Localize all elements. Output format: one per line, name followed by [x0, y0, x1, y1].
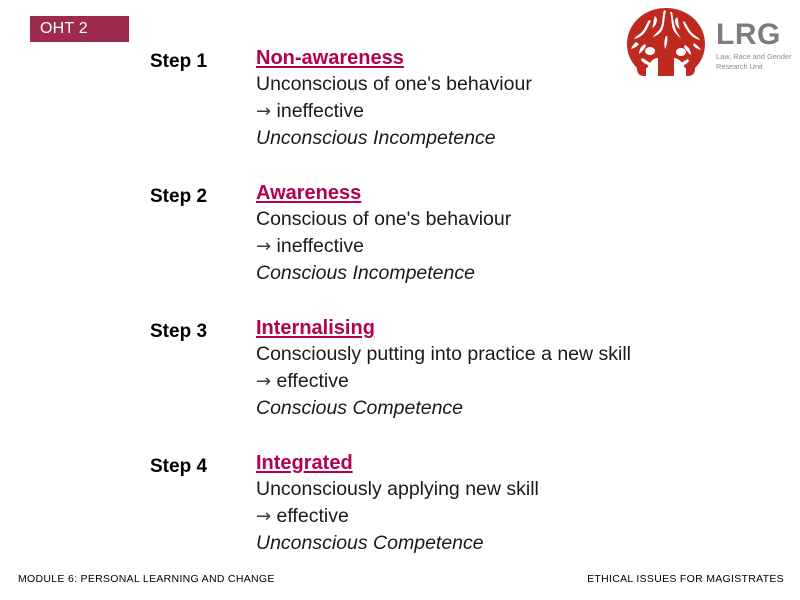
step-heading: Non-awareness — [256, 45, 404, 71]
arrow-right-icon: → — [256, 506, 271, 527]
step-outcome-line: → ineffective — [256, 233, 511, 260]
step-label: Step 4 — [150, 456, 207, 478]
step-description: Conscious of one's behaviour — [256, 206, 511, 233]
step-outcome-line: → effective — [256, 503, 539, 530]
step-block: Step 4 Integrated Unconsciously applying… — [0, 450, 800, 585]
step-body: Internalising Consciously putting into p… — [256, 315, 631, 422]
oht-badge-label: OHT 2 — [40, 20, 88, 37]
step-body: Non-awareness Unconscious of one's behav… — [256, 45, 532, 152]
step-stage: Unconscious Competence — [256, 530, 539, 557]
footer-module-label: MODULE 6: PERSONAL LEARNING AND CHANGE — [18, 573, 275, 585]
arrow-right-icon: → — [256, 236, 271, 257]
step-stage: Conscious Competence — [256, 395, 631, 422]
step-outcome: ineffective — [277, 100, 364, 122]
steps-list: Step 1 Non-awareness Unconscious of one'… — [0, 45, 800, 585]
step-block: Step 2 Awareness Conscious of one's beha… — [0, 180, 800, 315]
step-outcome-line: → effective — [256, 368, 631, 395]
step-label: Step 1 — [150, 51, 207, 73]
step-outcome-line: → ineffective — [256, 98, 532, 125]
step-heading: Internalising — [256, 315, 375, 341]
step-description: Consciously putting into practice a new … — [256, 341, 631, 368]
step-body: Integrated Unconsciously applying new sk… — [256, 450, 539, 557]
oht-badge: OHT 2 — [30, 16, 129, 42]
step-label: Step 3 — [150, 321, 207, 343]
step-description: Unconsciously applying new skill — [256, 476, 539, 503]
step-label: Step 2 — [150, 186, 207, 208]
step-outcome: ineffective — [277, 235, 364, 257]
step-heading: Integrated — [256, 450, 353, 476]
arrow-right-icon: → — [256, 101, 271, 122]
step-stage: Unconscious Incompetence — [256, 125, 532, 152]
step-heading: Awareness — [256, 180, 361, 206]
step-outcome: effective — [277, 505, 349, 527]
step-body: Awareness Conscious of one's behaviour →… — [256, 180, 511, 287]
step-stage: Conscious Incompetence — [256, 260, 511, 287]
step-description: Unconscious of one's behaviour — [256, 71, 532, 98]
arrow-right-icon: → — [256, 371, 271, 392]
step-outcome: effective — [277, 370, 349, 392]
step-block: Step 3 Internalising Consciously putting… — [0, 315, 800, 450]
step-block: Step 1 Non-awareness Unconscious of one'… — [0, 45, 800, 180]
footer-course-label: ETHICAL ISSUES FOR MAGISTRATES — [587, 573, 784, 585]
